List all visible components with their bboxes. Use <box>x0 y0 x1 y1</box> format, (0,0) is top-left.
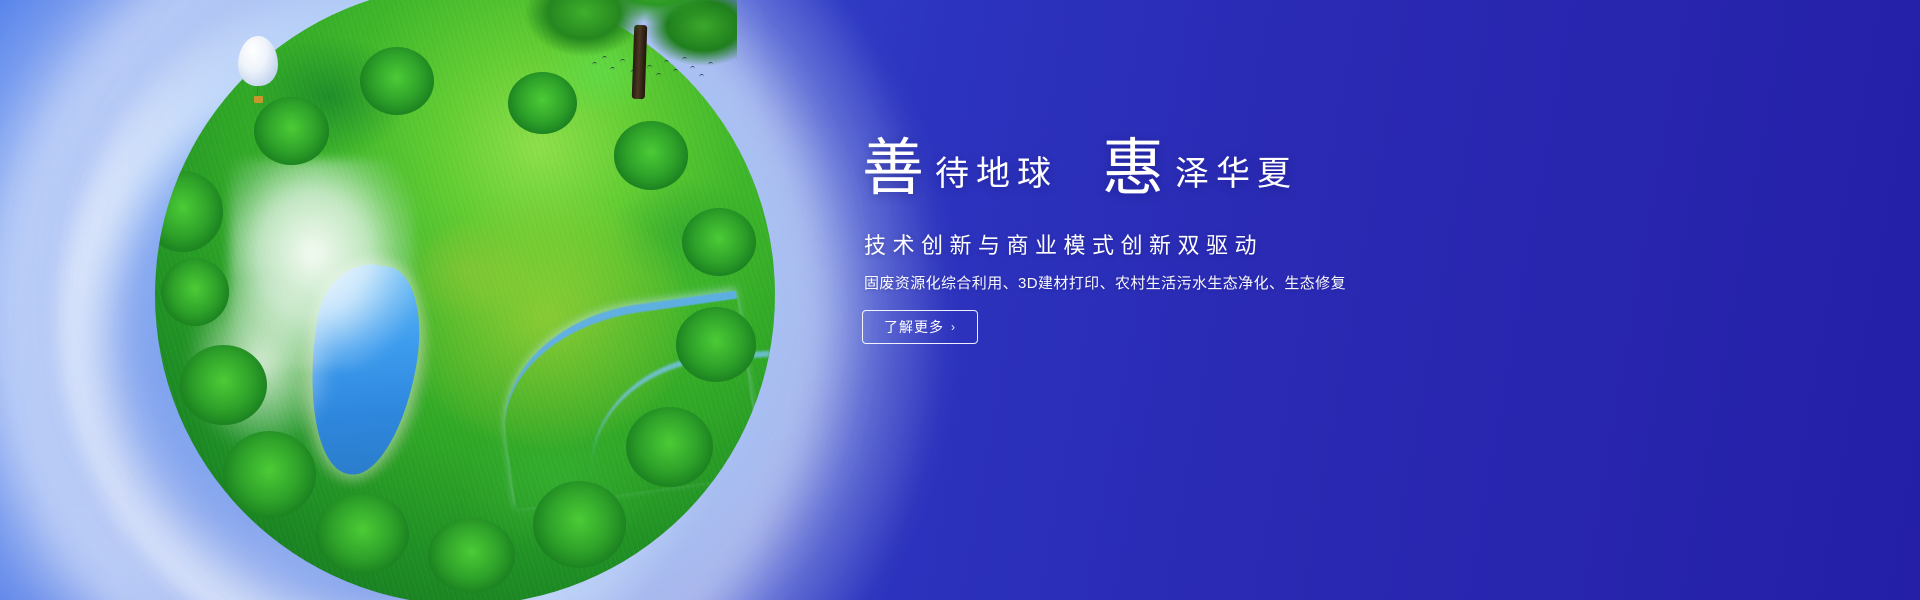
birds-flock-icon <box>590 48 720 86</box>
page-title: 善 待地球 惠 泽华夏 <box>862 138 1298 200</box>
headline-part1-small: 待地球 <box>935 158 1058 192</box>
globe-illustration <box>155 0 775 600</box>
hero-description: 固废资源化综合利用、3D建材打印、农村生活污水生态净化、生态修复 <box>864 272 1346 293</box>
headline-part2-small: 泽华夏 <box>1175 158 1298 192</box>
headline-part2-large: 惠 <box>1102 138 1165 200</box>
chevron-right-icon: › <box>951 321 956 333</box>
balloon-basket <box>254 96 263 103</box>
hot-air-balloon-icon <box>238 36 278 86</box>
headline-part1-large: 善 <box>862 138 925 200</box>
globe-sphere <box>155 0 775 600</box>
forest-rim <box>155 0 775 600</box>
learn-more-button[interactable]: 了解更多 › <box>862 310 978 344</box>
hero-banner: 善 待地球 惠 泽华夏 技术创新与商业模式创新双驱动 固废资源化综合利用、3D建… <box>0 0 1920 600</box>
hero-subtitle: 技术创新与商业模式创新双驱动 <box>864 228 1263 260</box>
learn-more-label: 了解更多 <box>884 317 944 337</box>
hero-content: 善 待地球 惠 泽华夏 技术创新与商业模式创新双驱动 固废资源化综合利用、3D建… <box>862 0 1482 600</box>
